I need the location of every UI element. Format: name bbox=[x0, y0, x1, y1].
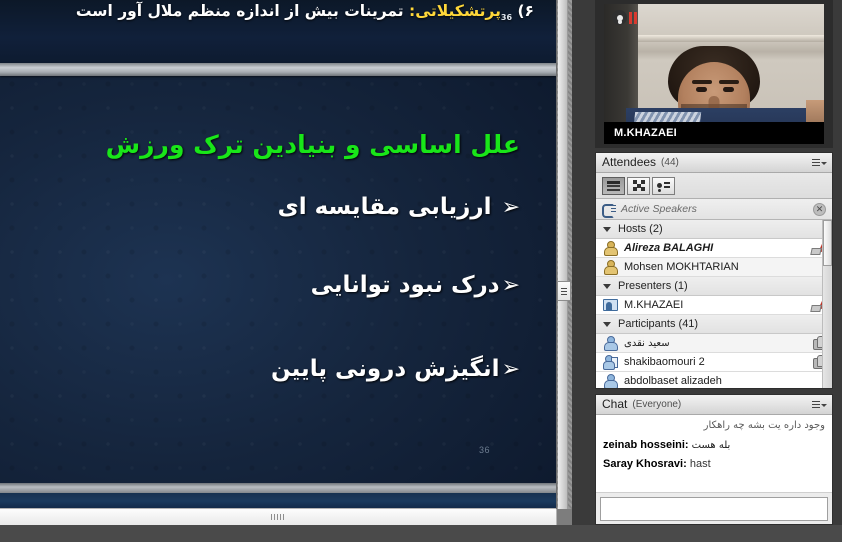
attendee-row[interactable]: shakibaomouri 2 bbox=[596, 353, 832, 372]
slide-bullet-3: ➢انگیزش درونی پایین bbox=[271, 356, 520, 382]
attendees-pod-options-icon[interactable] bbox=[812, 157, 827, 168]
chevron-down-icon bbox=[603, 322, 611, 327]
divider-rail bbox=[558, 0, 568, 509]
chevron-down-icon bbox=[821, 404, 827, 407]
group-label: Hosts (2) bbox=[618, 220, 663, 238]
attendee-name: abdolbaset alizadeh bbox=[624, 375, 722, 387]
attendee-name: shakibaomouri 2 bbox=[624, 356, 705, 368]
person-status-icon bbox=[657, 182, 670, 190]
slide-bullet-2: ➢درک نبود توانایی bbox=[311, 272, 520, 298]
group-label: Presenters (1) bbox=[618, 277, 688, 295]
chat-input-box[interactable] bbox=[600, 497, 828, 521]
participant-icon bbox=[603, 374, 617, 388]
slide-body: علل اساسی و بنیادین ترک ورزش ➢ ارزیابی م… bbox=[0, 76, 556, 509]
share-pod: ۶) 36پرتشکیلاتی: تمرینات بیش از اندازه م… bbox=[0, 0, 572, 525]
group-label: Participants (41) bbox=[618, 315, 698, 333]
collapse-panel-handle[interactable] bbox=[557, 281, 571, 301]
slide-header-superscript: 36 bbox=[501, 13, 512, 22]
attendees-scrollbar[interactable] bbox=[822, 220, 832, 388]
attendee-row[interactable]: سعید نقدی bbox=[596, 334, 832, 353]
attendee-name: Alireza BALAGHI bbox=[624, 242, 713, 254]
attendee-row[interactable]: Alireza BALAGHI bbox=[596, 239, 832, 258]
attendees-view-toolbar bbox=[596, 173, 832, 199]
attendees-list[interactable]: Hosts (2) Alireza BALAGHI Mohsen MOKHTAR… bbox=[596, 220, 832, 388]
webcam-name-label: M.KHAZAEI bbox=[604, 122, 824, 144]
attendees-pod-header: Attendees (44) bbox=[596, 153, 832, 173]
slide-bullet-1: ➢ ارزیابی مقایسه ای bbox=[278, 194, 520, 220]
bullet-marker-icon: ➢ bbox=[502, 195, 520, 220]
bullet-marker-icon: ➢ bbox=[502, 357, 520, 382]
participant-icon bbox=[603, 336, 617, 350]
video-person-brow-left bbox=[692, 80, 712, 84]
slide-header-rest: تمرینات بیش از اندازه منظم ملال آور است bbox=[76, 2, 409, 20]
chevron-down-icon bbox=[603, 284, 611, 289]
chat-input[interactable] bbox=[601, 498, 827, 520]
video-person-brow-right bbox=[719, 80, 739, 84]
panel-divider[interactable] bbox=[556, 0, 573, 509]
participant-webcam-icon bbox=[603, 355, 617, 369]
attendee-row[interactable]: M.KHAZAEI bbox=[596, 296, 832, 315]
host-icon bbox=[603, 260, 617, 274]
chat-scope-label: (Everyone) bbox=[632, 395, 681, 414]
attendee-row[interactable]: Mohsen MOKHTARIAN bbox=[596, 258, 832, 277]
camera-icon bbox=[612, 10, 627, 25]
slide-header-prefix: ۶) bbox=[512, 2, 534, 20]
group-header-hosts[interactable]: Hosts (2) bbox=[596, 220, 832, 239]
chat-message: zeinab hosseini: بله هست bbox=[603, 439, 825, 452]
list-view-button[interactable] bbox=[602, 177, 625, 195]
menu-bars-icon bbox=[812, 159, 820, 166]
chat-message: وجود داره یت بشه چه راهکار bbox=[603, 420, 825, 432]
bullet-text: درک نبود توانایی bbox=[311, 272, 500, 298]
presentation-slide[interactable]: ۶) 36پرتشکیلاتی: تمرینات بیش از اندازه م… bbox=[0, 0, 556, 509]
chat-pod-header: Chat (Everyone) bbox=[596, 395, 832, 415]
phone-icon bbox=[602, 203, 616, 215]
bullet-text: ارزیابی مقایسه ای bbox=[278, 194, 500, 220]
presenter-icon bbox=[603, 298, 617, 312]
slide-header-band: ۶) 36پرتشکیلاتی: تمرینات بیش از اندازه م… bbox=[0, 0, 556, 63]
attendee-name: Mohsen MOKHTARIAN bbox=[624, 261, 739, 273]
attendees-count: (44) bbox=[661, 153, 679, 172]
pause-icon bbox=[629, 12, 637, 24]
grid-view-button[interactable] bbox=[627, 177, 650, 195]
grid-view-icon bbox=[633, 180, 645, 191]
host-icon bbox=[603, 241, 617, 255]
video-person-eye-left bbox=[696, 87, 707, 92]
chat-pod-options-icon[interactable] bbox=[812, 399, 827, 410]
chat-message-sender: Saray Khosravi: bbox=[603, 458, 687, 470]
chat-message-list[interactable]: وجود داره یت بشه چه راهکار zeinab hossei… bbox=[596, 415, 832, 493]
list-view-icon bbox=[607, 181, 620, 191]
group-header-presenters[interactable]: Presenters (1) bbox=[596, 277, 832, 296]
attendee-row[interactable]: abdolbaset alizadeh bbox=[596, 372, 832, 388]
chat-message: Saray Khosravi: hast bbox=[603, 458, 825, 471]
video-person-eye-right bbox=[723, 87, 734, 92]
chat-pod-title: Chat bbox=[602, 395, 627, 414]
attendees-pod-title: Attendees bbox=[602, 153, 656, 172]
active-speakers-row[interactable]: Active Speakers ✕ bbox=[596, 199, 832, 220]
chat-message-text: وجود داره یت بشه چه راهکار bbox=[704, 420, 825, 431]
attendee-name: سعید نقدی bbox=[624, 338, 670, 349]
scrollbar-thumb[interactable] bbox=[823, 220, 832, 266]
scrollbar-grip-icon bbox=[271, 514, 285, 520]
bullet-text: انگیزش درونی پایین bbox=[271, 356, 500, 382]
handle-lines-icon bbox=[561, 288, 567, 295]
attendees-pod: Attendees (44) Act bbox=[595, 152, 833, 389]
slide-divider-band bbox=[0, 63, 556, 76]
chat-message-sender: zeinab hosseini: bbox=[603, 439, 689, 451]
menu-bars-icon bbox=[812, 401, 820, 408]
close-circle-icon[interactable]: ✕ bbox=[813, 203, 826, 216]
chevron-down-icon bbox=[603, 227, 611, 232]
recording-paused-icon bbox=[612, 10, 637, 25]
slide-page-number: 36 bbox=[479, 445, 490, 455]
active-speakers-label: Active Speakers bbox=[621, 203, 697, 215]
status-view-button[interactable] bbox=[652, 177, 675, 195]
chevron-down-icon bbox=[821, 162, 827, 165]
bullet-marker-icon: ➢ bbox=[502, 273, 520, 298]
slide-header-highlight: پرتشکیلاتی: bbox=[409, 2, 501, 20]
chat-message-text: بله هست bbox=[692, 440, 731, 451]
webcam-pod: M.KHAZAEI bbox=[595, 0, 833, 148]
share-horizontal-scrollbar[interactable] bbox=[0, 508, 557, 525]
adobe-connect-meeting-window: ۶) 36پرتشکیلاتی: تمرینات بیش از اندازه م… bbox=[0, 0, 842, 525]
chat-message-text: hast bbox=[690, 458, 711, 470]
slide-title: علل اساسی و بنیادین ترک ورزش bbox=[106, 130, 520, 159]
attendee-name: M.KHAZAEI bbox=[624, 299, 683, 311]
webcam-video-frame[interactable]: M.KHAZAEI bbox=[604, 4, 824, 144]
chat-pod: Chat (Everyone) وجود داره یت بشه چه راهک… bbox=[595, 394, 833, 525]
group-header-participants[interactable]: Participants (41) bbox=[596, 315, 832, 334]
right-pod-column: M.KHAZAEI Attendees (44) bbox=[572, 0, 842, 525]
slide-header-text: ۶) 36پرتشکیلاتی: تمرینات بیش از اندازه م… bbox=[76, 2, 534, 22]
